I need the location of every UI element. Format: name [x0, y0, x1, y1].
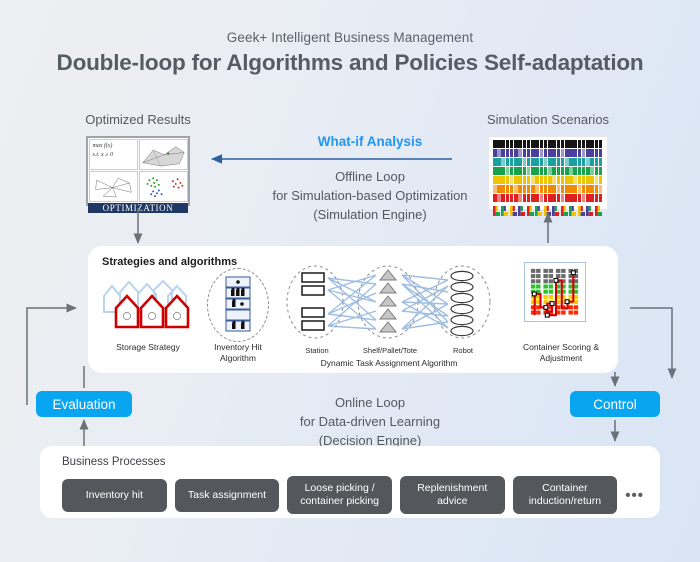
business-process-chip[interactable]: Container induction/return	[513, 476, 618, 514]
evaluation-badge[interactable]: Evaluation	[36, 391, 132, 417]
robot-label: Robot	[432, 346, 494, 355]
container-scoring-caption: Container Scoring & Adjustment	[508, 342, 614, 364]
storage-strategy-caption: Storage Strategy	[96, 342, 200, 353]
business-process-chip[interactable]: Inventory hit	[62, 479, 167, 512]
business-processes-title: Business Processes	[62, 456, 166, 468]
strategies-panel-title: Strategies and algorithms	[102, 256, 237, 268]
dynamic-task-assignment-caption: Dynamic Task Assignment Algorithm	[284, 358, 494, 369]
business-process-chip[interactable]: Loose picking / container picking	[287, 476, 392, 514]
business-process-chip[interactable]: Task assignment	[175, 479, 280, 512]
container-scoring-chart	[524, 262, 586, 322]
diagram-canvas: Geek+ Intelligent Business Management Do…	[0, 0, 700, 562]
business-process-chip[interactable]: Replenishment advice	[400, 476, 505, 514]
station-label: Station	[286, 346, 348, 355]
control-badge[interactable]: Control	[570, 391, 660, 417]
more-processes-ellipsis[interactable]: •••	[625, 487, 644, 504]
business-process-chip-row: Inventory hitTask assignmentLoose pickin…	[62, 476, 644, 514]
inventory-hit-caption: Inventory Hit Algorithm	[200, 342, 276, 364]
shelf-pallet-tote-label: Shelf/Pallet/Tote	[356, 346, 424, 355]
business-processes-panel: Business Processes Inventory hitTask ass…	[40, 446, 660, 518]
